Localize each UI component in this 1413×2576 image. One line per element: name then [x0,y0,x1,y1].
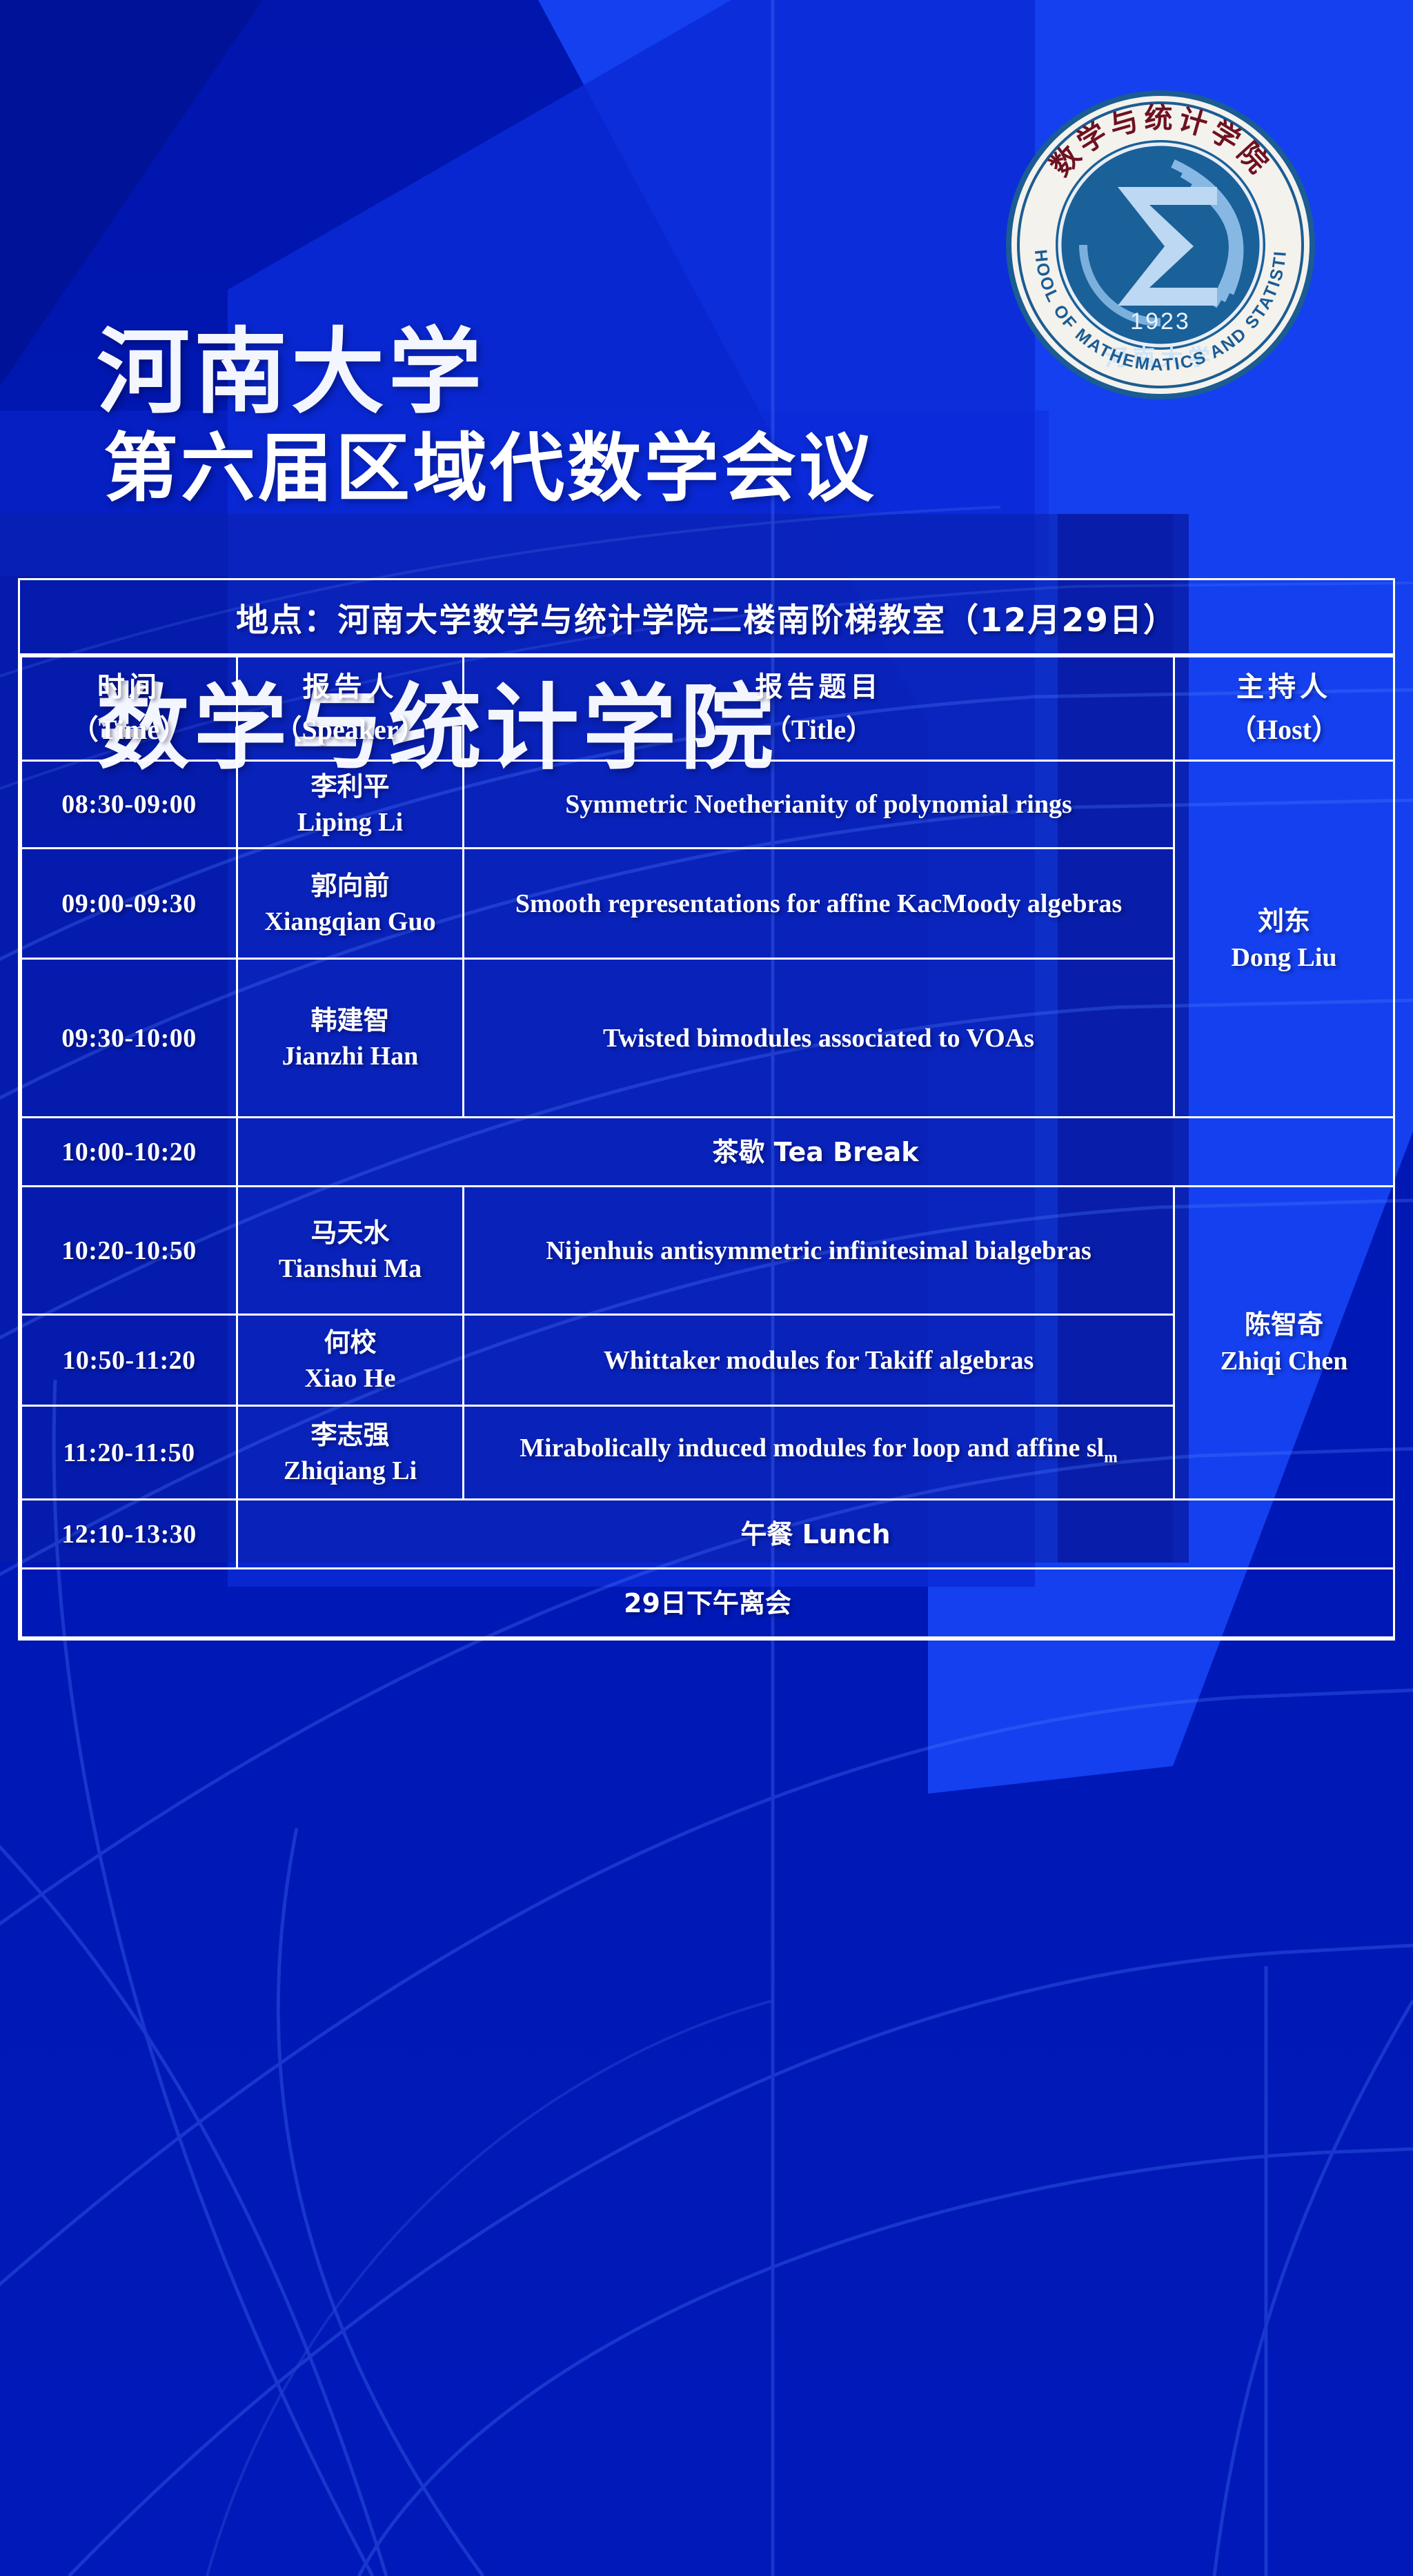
venue-text: 地点：河南大学数学与统计学院二楼南阶梯教室（12月29日） [236,593,1177,641]
poster-header: 河南大学 数学与统计学院 第六届区域代数学会议 [0,0,1413,579]
conference-title: 第六届区域代数学会议 [103,428,876,511]
row-host-cn: 陈智奇 [1245,1309,1323,1340]
column-header-time-en: （Time） [71,714,187,745]
column-header-speaker-cn: 报告人 [303,671,398,703]
row-speaker-en: Xiao He [242,1360,458,1396]
university-title-line1: 河南大学 [97,313,778,432]
lunch-row: 12:10-13:30 午餐 Lunch [21,1500,1394,1569]
row-speaker: 韩建智 Jianzhi Han [237,959,464,1118]
row-title: Twisted bimodules associated to VOAs [464,959,1174,1118]
row-speaker-cn: 马天水 [242,1215,458,1251]
row-host: 刘东 Dong Liu [1174,761,1394,1118]
table-row: 10:20-10:50 马天水 Tianshui Ma Nijenhuis an… [21,1187,1394,1315]
tea-break-time: 10:00-10:20 [21,1118,237,1187]
row-host-en: Zhiqi Chen [1221,1347,1348,1376]
row-time: 10:20-10:50 [21,1187,237,1315]
tea-break-row: 10:00-10:20 茶歇 Tea Break [21,1118,1394,1187]
table-row: 08:30-09:00 李利平 Liping Li Symmetric Noet… [21,761,1394,849]
column-header-title: 报告题目 （Title） [464,657,1174,761]
row-speaker-en: Tianshui Ma [242,1251,458,1287]
row-title-main: Mirabolically induced modules for loop a… [520,1434,1104,1463]
column-header-host-cn: 主持人 [1236,671,1332,703]
lunch-label: 午餐 Lunch [237,1500,1394,1569]
footer-note: 29日下午离会 [21,1569,1394,1638]
tea-break-label: 茶歇 Tea Break [237,1118,1394,1187]
column-header-title-en: （Title） [764,714,873,745]
column-header-time: 时间 （Time） [21,657,237,761]
school-emblem-icon: 1923 河南大学 数学与统计学院 SCHOOL OF MATHEMATICS … [1002,86,1319,404]
row-speaker-cn: 何校 [242,1325,458,1360]
row-speaker-cn: 韩建智 [242,1002,458,1038]
row-time: 09:30-10:00 [21,959,237,1118]
lunch-time: 12:10-13:30 [21,1500,237,1569]
row-time: 08:30-09:00 [21,761,237,849]
row-host-cn: 刘东 [1258,906,1310,936]
column-header-title-cn: 报告题目 [755,671,882,703]
row-speaker: 李志强 Zhiqiang Li [237,1406,464,1500]
venue-row: 地点：河南大学数学与统计学院二楼南阶梯教室（12月29日） [20,580,1393,655]
row-speaker: 马天水 Tianshui Ma [237,1187,464,1315]
row-speaker-en: Xiangqian Guo [242,904,458,940]
row-title: Nijenhuis antisymmetric infinitesimal bi… [464,1187,1174,1315]
column-header-time-cn: 时间 [97,671,161,703]
row-speaker-en: Liping Li [242,804,458,840]
column-header-speaker-en: （Speaker） [275,714,426,745]
schedule-card: 地点：河南大学数学与统计学院二楼南阶梯教室（12月29日） 时间 （Time） … [18,578,1395,1641]
poster-root: 河南大学 数学与统计学院 第六届区域代数学会议 [0,0,1413,2576]
row-title: Smooth representations for affine KacMoo… [464,849,1174,959]
row-speaker: 郭向前 Xiangqian Guo [237,849,464,959]
row-speaker-cn: 李志强 [242,1417,458,1453]
row-title: Mirabolically induced modules for loop a… [464,1406,1174,1500]
row-title: Symmetric Noetherianity of polynomial ri… [464,761,1174,849]
row-host: 陈智奇 Zhiqi Chen [1174,1187,1394,1500]
column-header-host: 主持人 （Host） [1174,657,1394,761]
row-speaker-cn: 李利平 [242,769,458,804]
column-header-speaker: 报告人 （Speaker） [237,657,464,761]
row-speaker-cn: 郭向前 [242,868,458,904]
row-time: 09:00-09:30 [21,849,237,959]
svg-text:1923: 1923 [1130,308,1191,335]
row-time: 11:20-11:50 [21,1406,237,1500]
row-speaker: 何校 Xiao He [237,1315,464,1406]
row-speaker: 李利平 Liping Li [237,761,464,849]
row-time: 10:50-11:20 [21,1315,237,1406]
row-speaker-en: Jianzhi Han [242,1038,458,1074]
column-header-host-en: （Host） [1229,714,1339,745]
schedule-table: 时间 （Time） 报告人 （Speaker） 报告题目 （Title） 主持人… [20,655,1395,1638]
row-title-subscript: m [1104,1448,1118,1466]
row-title: Whittaker modules for Takiff algebras [464,1315,1174,1406]
row-speaker-en: Zhiqiang Li [242,1453,458,1489]
footer-note-row: 29日下午离会 [21,1569,1394,1638]
table-header-row: 时间 （Time） 报告人 （Speaker） 报告题目 （Title） 主持人… [21,657,1394,761]
row-host-en: Dong Liu [1231,943,1336,972]
